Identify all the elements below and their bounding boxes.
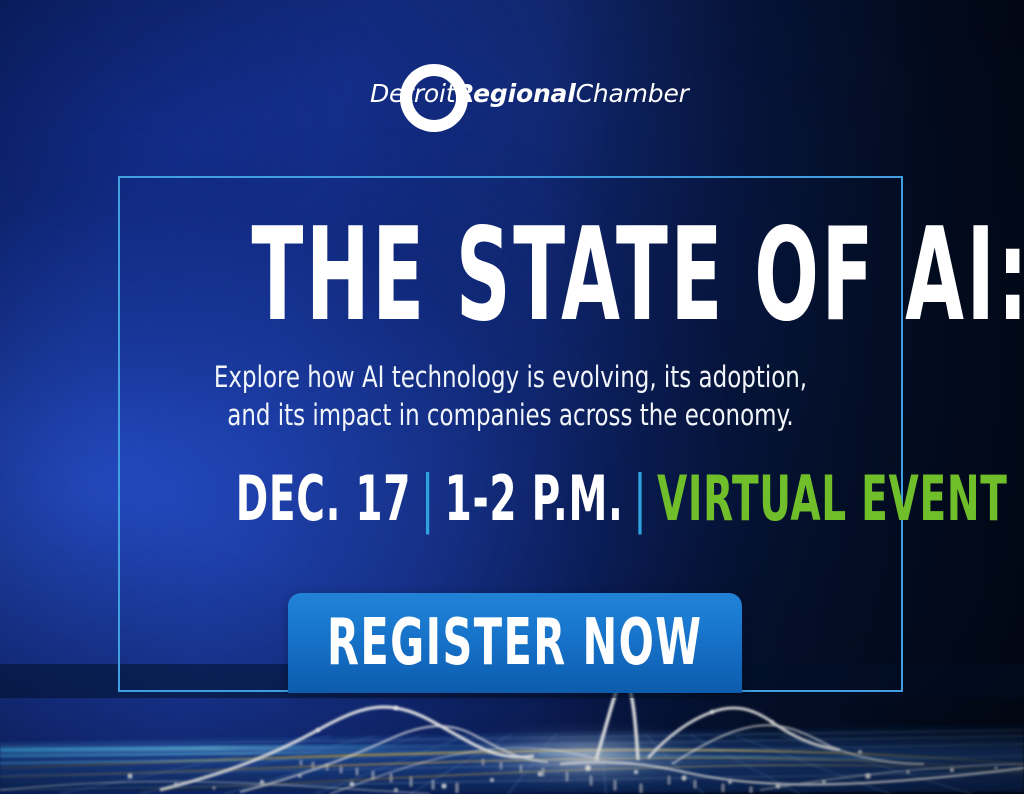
subtitle-line-2: and its impact in companies across the e… — [165, 396, 856, 434]
separator-1: | — [411, 462, 444, 535]
page-title: THE STATE OF AI: — [251, 222, 769, 330]
wordmark-regional: Regional — [455, 79, 575, 108]
detroit-regional-chamber-logo: DetroitRegionalChamber — [0, 62, 1024, 140]
register-now-label: REGISTER NOW — [327, 611, 702, 675]
wordmark-detroit: Detroit — [370, 79, 455, 108]
event-details: DEC. 17|1-2 P.M.|VIRTUAL EVENT — [236, 470, 786, 528]
event-type: VIRTUAL EVENT — [657, 462, 1008, 535]
subtitle: Explore how AI technology is evolving, i… — [165, 358, 856, 434]
promo-banner: DetroitRegionalChamber THE STATE OF AI: … — [0, 0, 1024, 794]
register-now-button[interactable]: REGISTER NOW — [288, 593, 742, 693]
wordmark-chamber: Chamber — [576, 79, 689, 108]
separator-2: | — [624, 462, 657, 535]
event-date: DEC. 17 — [236, 462, 411, 535]
subtitle-line-1: Explore how AI technology is evolving, i… — [165, 358, 856, 396]
chamber-wordmark: DetroitRegionalChamber — [370, 81, 662, 106]
event-time: 1-2 P.M. — [445, 462, 624, 535]
